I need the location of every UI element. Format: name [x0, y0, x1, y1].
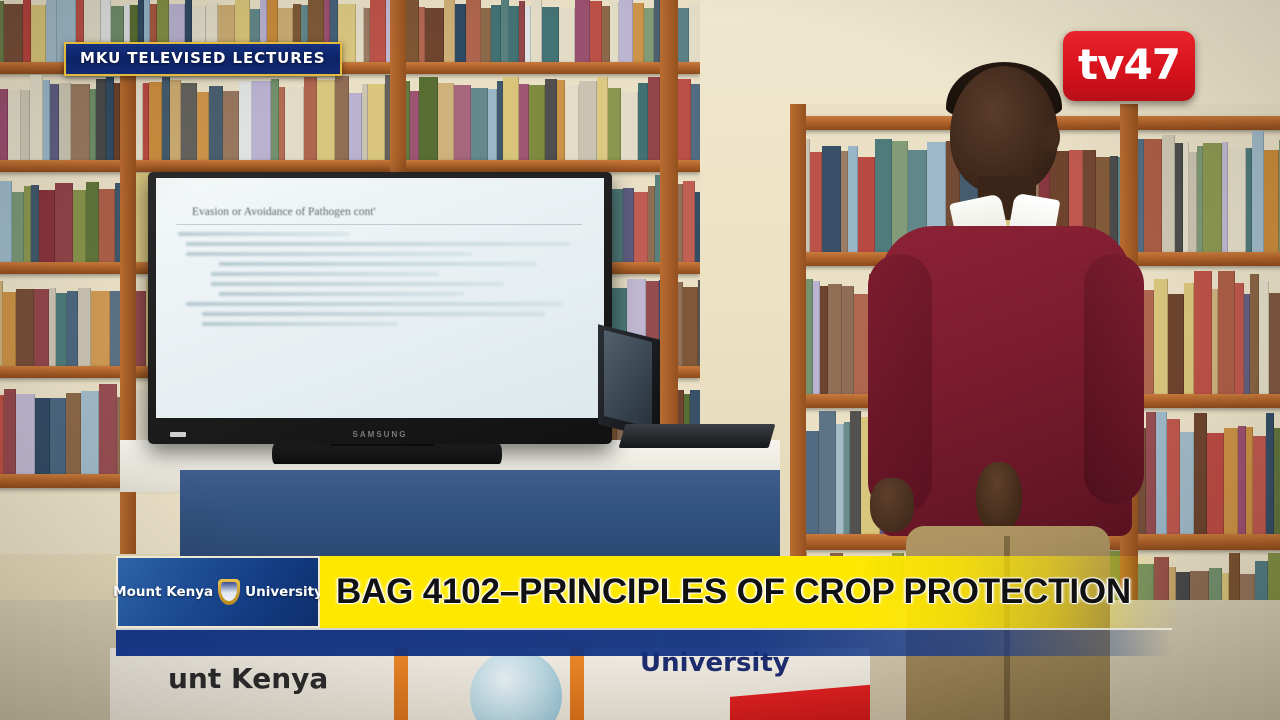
- presenter-arm: [868, 254, 932, 514]
- slide-body-text: [178, 232, 586, 332]
- presenter-arm: [1084, 254, 1144, 504]
- course-title-text: BAG 4102–PRINCIPLES OF CROP PROTECTION: [336, 572, 1131, 612]
- broadcast-screenshot: Evasion or Avoidance of Pathogen cont' S…: [0, 0, 1280, 720]
- channel-logo: tv47: [1063, 31, 1195, 101]
- presenter-ear: [1042, 122, 1060, 152]
- tv-screen: Evasion or Avoidance of Pathogen cont': [156, 178, 604, 418]
- lower-third-banner: Mount Kenya University BAG 4102–PRINCIPL…: [0, 548, 1280, 668]
- shelf-board: [0, 160, 700, 172]
- tv-power-led: [170, 432, 186, 437]
- slide-title-rule: [176, 224, 582, 225]
- book-row: [0, 74, 700, 160]
- slide-body-line: [186, 252, 472, 256]
- slide-body-line: [211, 272, 439, 276]
- course-title-bar: BAG 4102–PRINCIPLES OF CROP PROTECTION: [320, 556, 1180, 628]
- slide-body-line: [202, 312, 545, 316]
- slide-body-line: [219, 292, 464, 296]
- laptop-screen: [604, 330, 652, 428]
- television-display: Evasion or Avoidance of Pathogen cont' S…: [148, 172, 612, 444]
- slide-body-line: [186, 242, 570, 246]
- lower-third-strip: [116, 628, 1172, 656]
- slide-body-line: [178, 232, 349, 236]
- presenter-hand: [870, 478, 914, 532]
- tv-brand-label: SAMSUNG: [353, 430, 408, 439]
- slide-body-line: [186, 302, 561, 306]
- university-name-left: Mount Kenya: [113, 584, 213, 600]
- channel-logo-text: tv47: [1078, 44, 1180, 86]
- slide-title: Evasion or Avoidance of Pathogen cont': [192, 206, 376, 218]
- presenter-hand: [976, 462, 1022, 532]
- tv-stand-base: [272, 444, 502, 464]
- poster-red-shape: [730, 675, 870, 720]
- slide-body-line: [202, 322, 398, 326]
- slide-body-line: [211, 282, 505, 286]
- slide-body-line: [219, 262, 537, 266]
- program-badge: MKU TELEVISED LECTURES: [64, 42, 342, 76]
- shield-crest-icon: [218, 579, 240, 605]
- laptop-keyboard: [619, 424, 776, 448]
- university-logo-box: Mount Kenya University: [116, 556, 320, 628]
- university-name-right: University: [245, 584, 323, 600]
- program-badge-label: MKU TELEVISED LECTURES: [80, 49, 326, 67]
